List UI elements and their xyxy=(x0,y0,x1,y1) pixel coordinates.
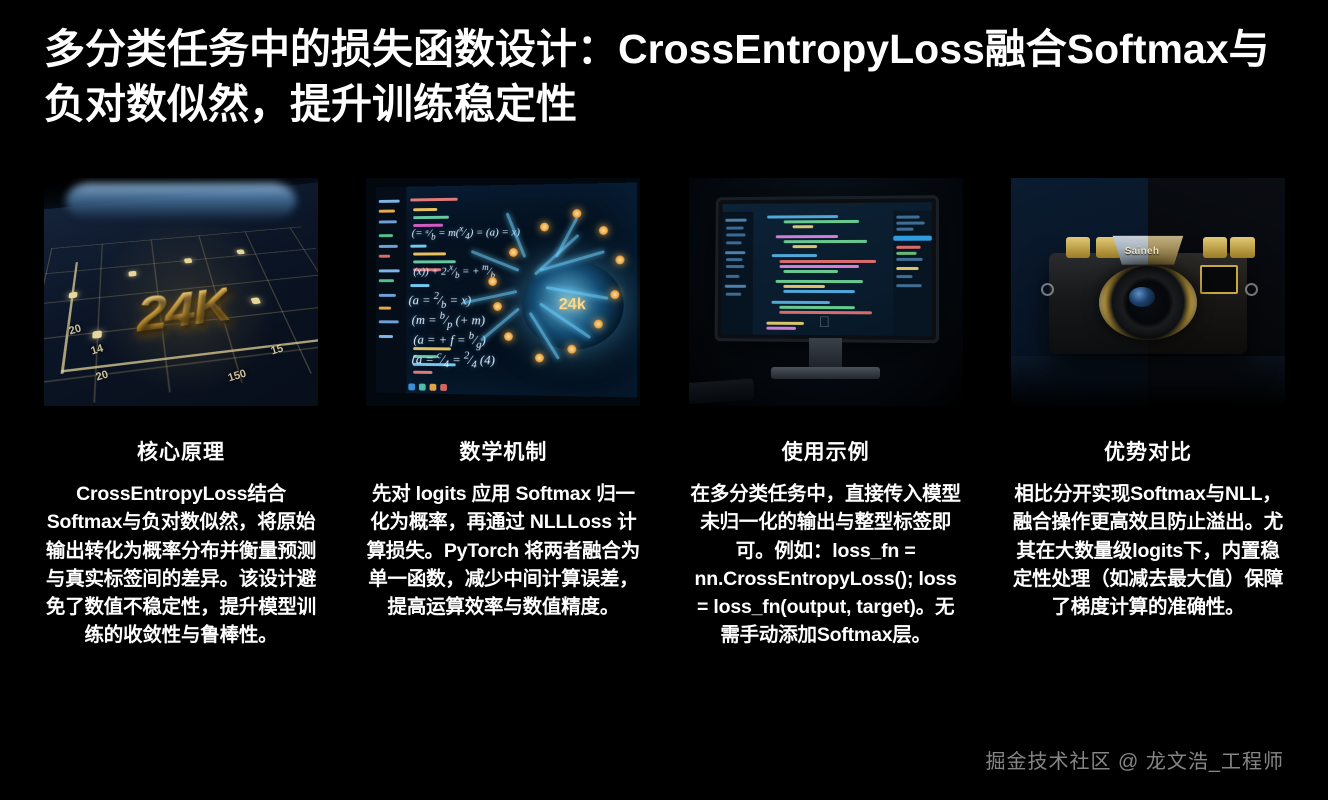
card-heading: 数学机制 xyxy=(366,442,640,463)
card-math-mechanism: (= ᵃ⁄b = m(x⁄4) = (a) = x) (x)) + 2·x⁄b … xyxy=(366,178,640,650)
strap-lug-right xyxy=(1245,283,1258,296)
card-row: 20 14 20 150 15 24K 核心原理 CrossEntropyLos… xyxy=(44,178,1285,650)
editor-code-lines: (= ᵃ⁄b = m(x⁄4) = (a) = x) (x)) + 2·x⁄b … xyxy=(408,189,490,390)
page-title: 多分类任务中的损失函数设计：CrossEntropyLoss融合Softmax与… xyxy=(44,22,1284,133)
editor-sidebar xyxy=(376,187,406,393)
imac-base xyxy=(771,367,881,378)
card-usage-example:  使用示例 在多分类任务中，直接传入模型未归一化的输出与整型标签即可。例如：l… xyxy=(689,178,963,650)
card-body: 先对 logits 应用 Softmax 归一化为概率，再通过 NLLLoss … xyxy=(366,480,640,621)
split-gold-black-camera-image: Saineh xyxy=(1011,178,1285,406)
card-body: 在多分类任务中，直接传入模型未归一化的输出与整型标签即可。例如：loss_fn … xyxy=(689,480,963,650)
neuron-24k-label: 24k xyxy=(558,295,585,313)
card-core-principle: 20 14 20 150 15 24K 核心原理 CrossEntropyLos… xyxy=(44,178,318,650)
gold-glow xyxy=(44,178,318,406)
monitor-screen: (= ᵃ⁄b = m(x⁄4) = (a) = x) (x)) + 2·x⁄b … xyxy=(376,182,637,397)
card-body: 相比分开实现Softmax与NLL，融合操作更高效且防止溢出。尤其在大数量级lo… xyxy=(1011,480,1285,621)
strap-lug-left xyxy=(1041,283,1054,296)
imac-code-editor-image:  xyxy=(689,178,963,406)
camera-shutter-dial xyxy=(1230,237,1255,258)
apple-logo-icon:  xyxy=(819,315,833,331)
camera-viewfinder xyxy=(1200,265,1238,295)
watermark: 掘金技术社区 @ 龙文浩_工程师 xyxy=(985,745,1284,774)
card-heading: 核心原理 xyxy=(44,442,318,463)
slide-root: 多分类任务中的损失函数设计：CrossEntropyLoss融合Softmax与… xyxy=(0,0,1328,800)
card-heading: 优势对比 xyxy=(1011,442,1285,463)
editor-minimap xyxy=(893,211,932,337)
camera-brand-label: Saineh xyxy=(1125,246,1160,257)
reflective-floor xyxy=(1011,356,1285,406)
os-taskbar xyxy=(408,383,474,392)
card-advantage-comparison: Saineh 优势对比 相比分开实现Softmax与NLL，融合操作更高效且防止… xyxy=(1011,178,1285,650)
neural-network-formula-screen-image: (= ᵃ⁄b = m(x⁄4) = (a) = x) (x)) + 2·x⁄b … xyxy=(366,178,640,406)
camera-dial-right xyxy=(1203,237,1228,258)
card-heading: 使用示例 xyxy=(689,442,963,463)
camera-dial-left xyxy=(1066,237,1091,258)
keyboard xyxy=(689,378,755,403)
card-body: CrossEntropyLoss结合Softmax与负对数似然，将原始输出转化为… xyxy=(44,480,318,650)
imac-stand xyxy=(809,338,842,370)
camera-lens xyxy=(1099,265,1198,340)
gold-24k-tablet-chart-image: 20 14 20 150 15 24K xyxy=(44,178,318,406)
editor-file-tree xyxy=(722,212,754,335)
